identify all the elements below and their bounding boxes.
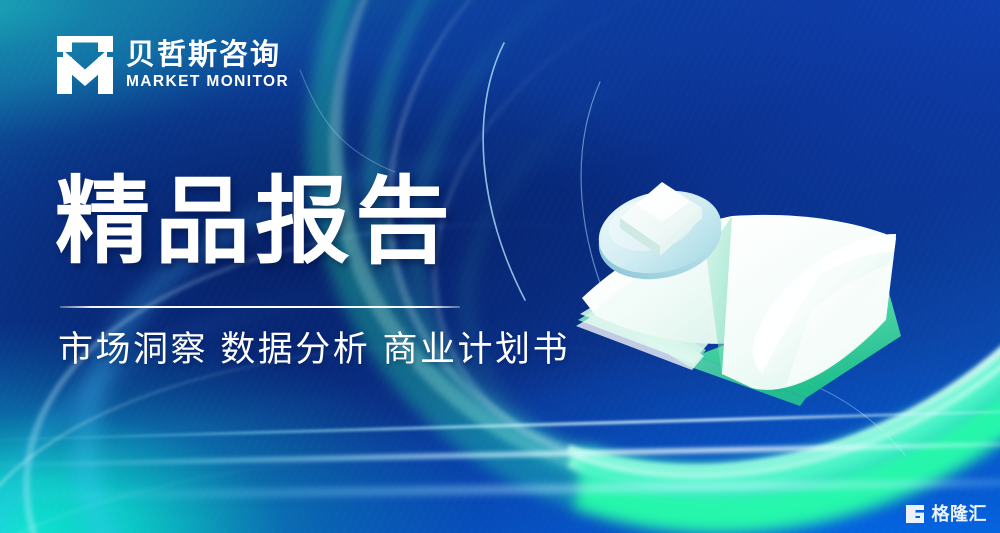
market-monitor-m-logo-icon <box>57 36 113 94</box>
brand-logo[interactable]: 贝哲斯咨询 MARKET MONITOR <box>57 36 289 94</box>
brand-text: 贝哲斯咨询 MARKET MONITOR <box>126 41 289 89</box>
page-title: 精品报告 <box>55 172 455 273</box>
brand-name-en: MARKET MONITOR <box>126 74 289 90</box>
watermark: 格隆汇 <box>904 503 988 525</box>
brand-name-cn: 贝哲斯咨询 <box>126 41 289 71</box>
title-divider <box>60 306 460 308</box>
watermark-text: 格隆汇 <box>932 505 988 523</box>
banner-content: 贝哲斯咨询 MARKET MONITOR 精品报告 市场洞察 数据分析 商业计划… <box>0 0 1000 533</box>
gelonghui-g-logo-icon <box>904 503 926 525</box>
report-banner: 贝哲斯咨询 MARKET MONITOR 精品报告 市场洞察 数据分析 商业计划… <box>0 0 1000 533</box>
page-subtitle: 市场洞察 数据分析 商业计划书 <box>58 328 570 372</box>
